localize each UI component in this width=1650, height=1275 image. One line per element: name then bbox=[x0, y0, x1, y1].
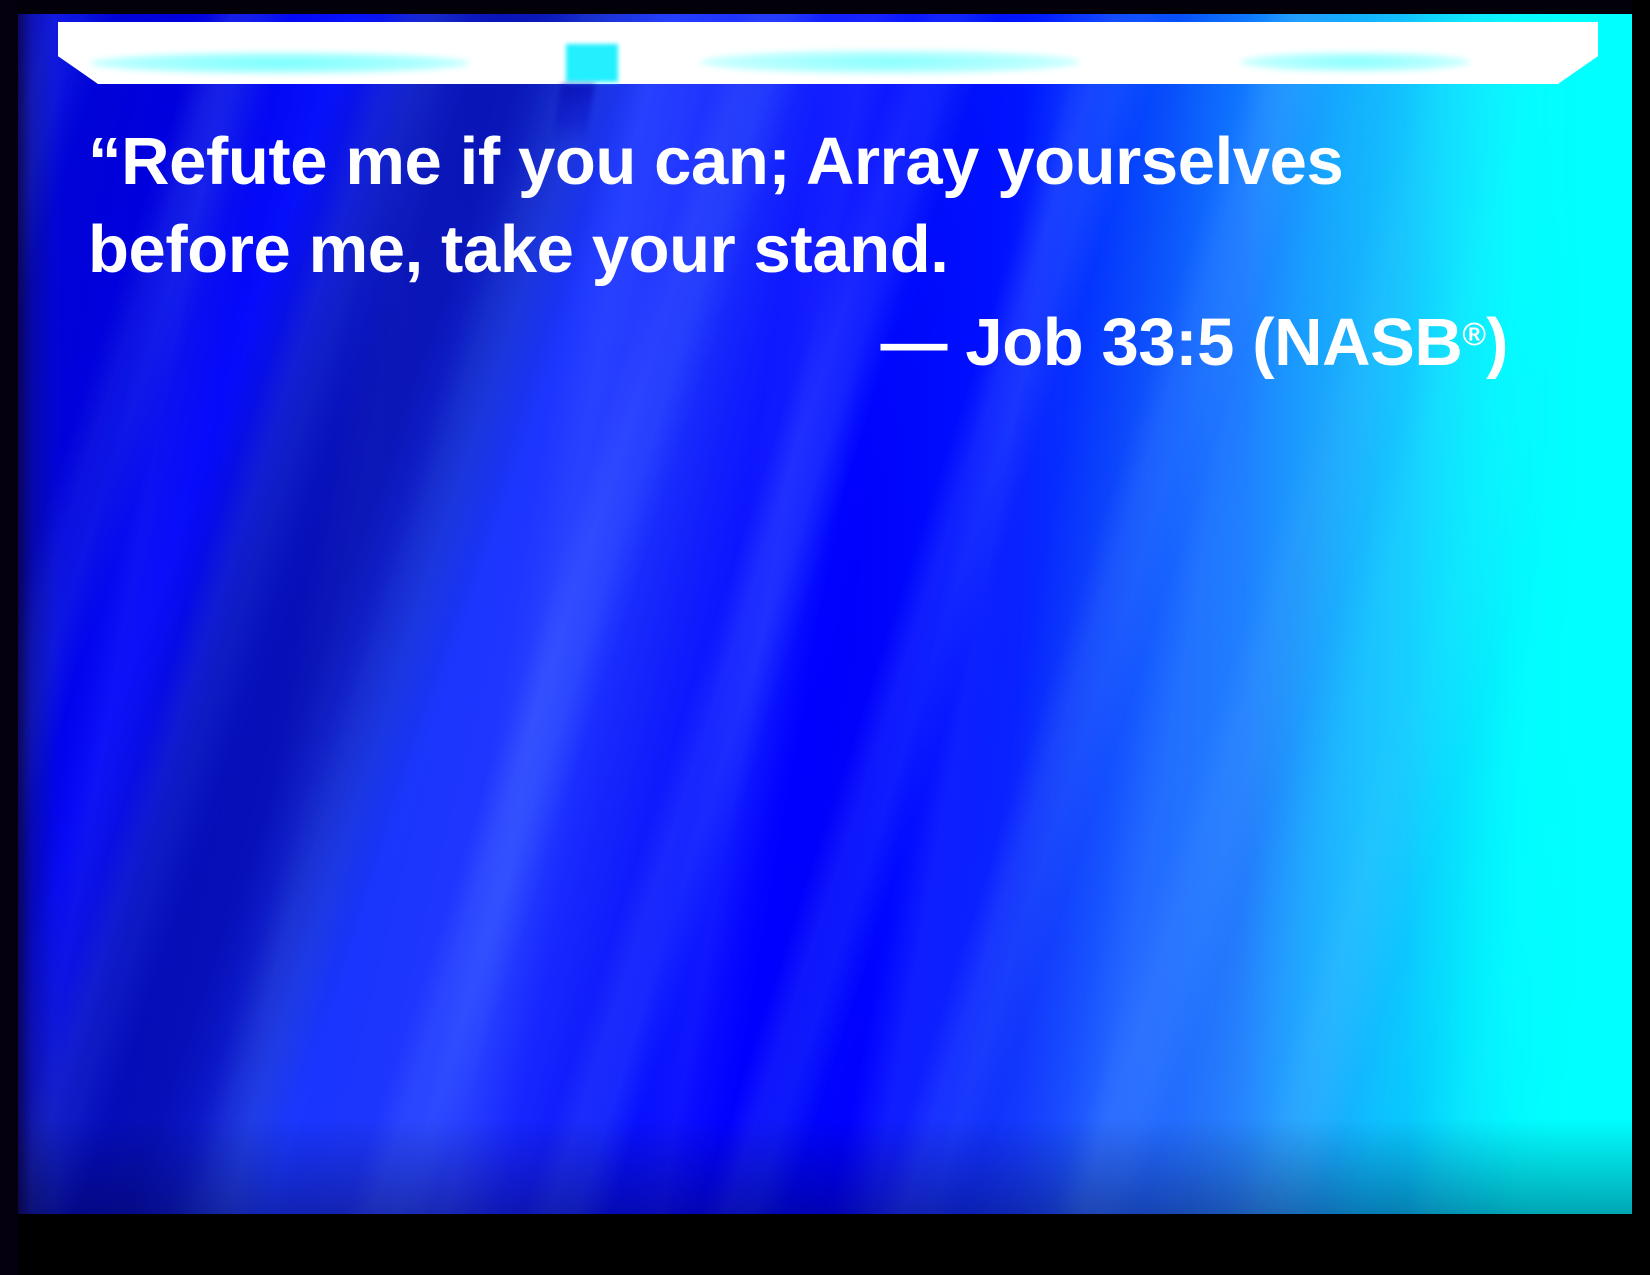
verse-line-1: “Refute me if you can; Array yourselves bbox=[88, 118, 1508, 206]
frame-edge-top bbox=[0, 0, 1650, 14]
attribution-reference: — Job 33:5 (NASB bbox=[881, 305, 1463, 380]
verse-line-2: before me, take your stand. bbox=[88, 206, 1508, 294]
scripture-slide: “Refute me if you can; Array yourselves … bbox=[0, 0, 1650, 1275]
frame-edge-left bbox=[0, 0, 18, 1275]
glow-bar-cyan-highlight-right bbox=[1240, 52, 1470, 72]
frame-edge-bottom bbox=[0, 1214, 1650, 1275]
verse-attribution: — Job 33:5 (NASB®) bbox=[88, 290, 1508, 387]
frame-edge-right bbox=[1632, 0, 1650, 1275]
registered-trademark-icon: ® bbox=[1462, 316, 1486, 352]
verse-text: “Refute me if you can; Array yourselves … bbox=[88, 118, 1508, 294]
glow-bar-cyan-notch bbox=[566, 44, 618, 82]
attribution-closing-paren: ) bbox=[1486, 305, 1508, 380]
glow-bar-cyan-highlight-center bbox=[700, 50, 1080, 74]
glow-bar-cyan-highlight-left bbox=[90, 52, 470, 74]
